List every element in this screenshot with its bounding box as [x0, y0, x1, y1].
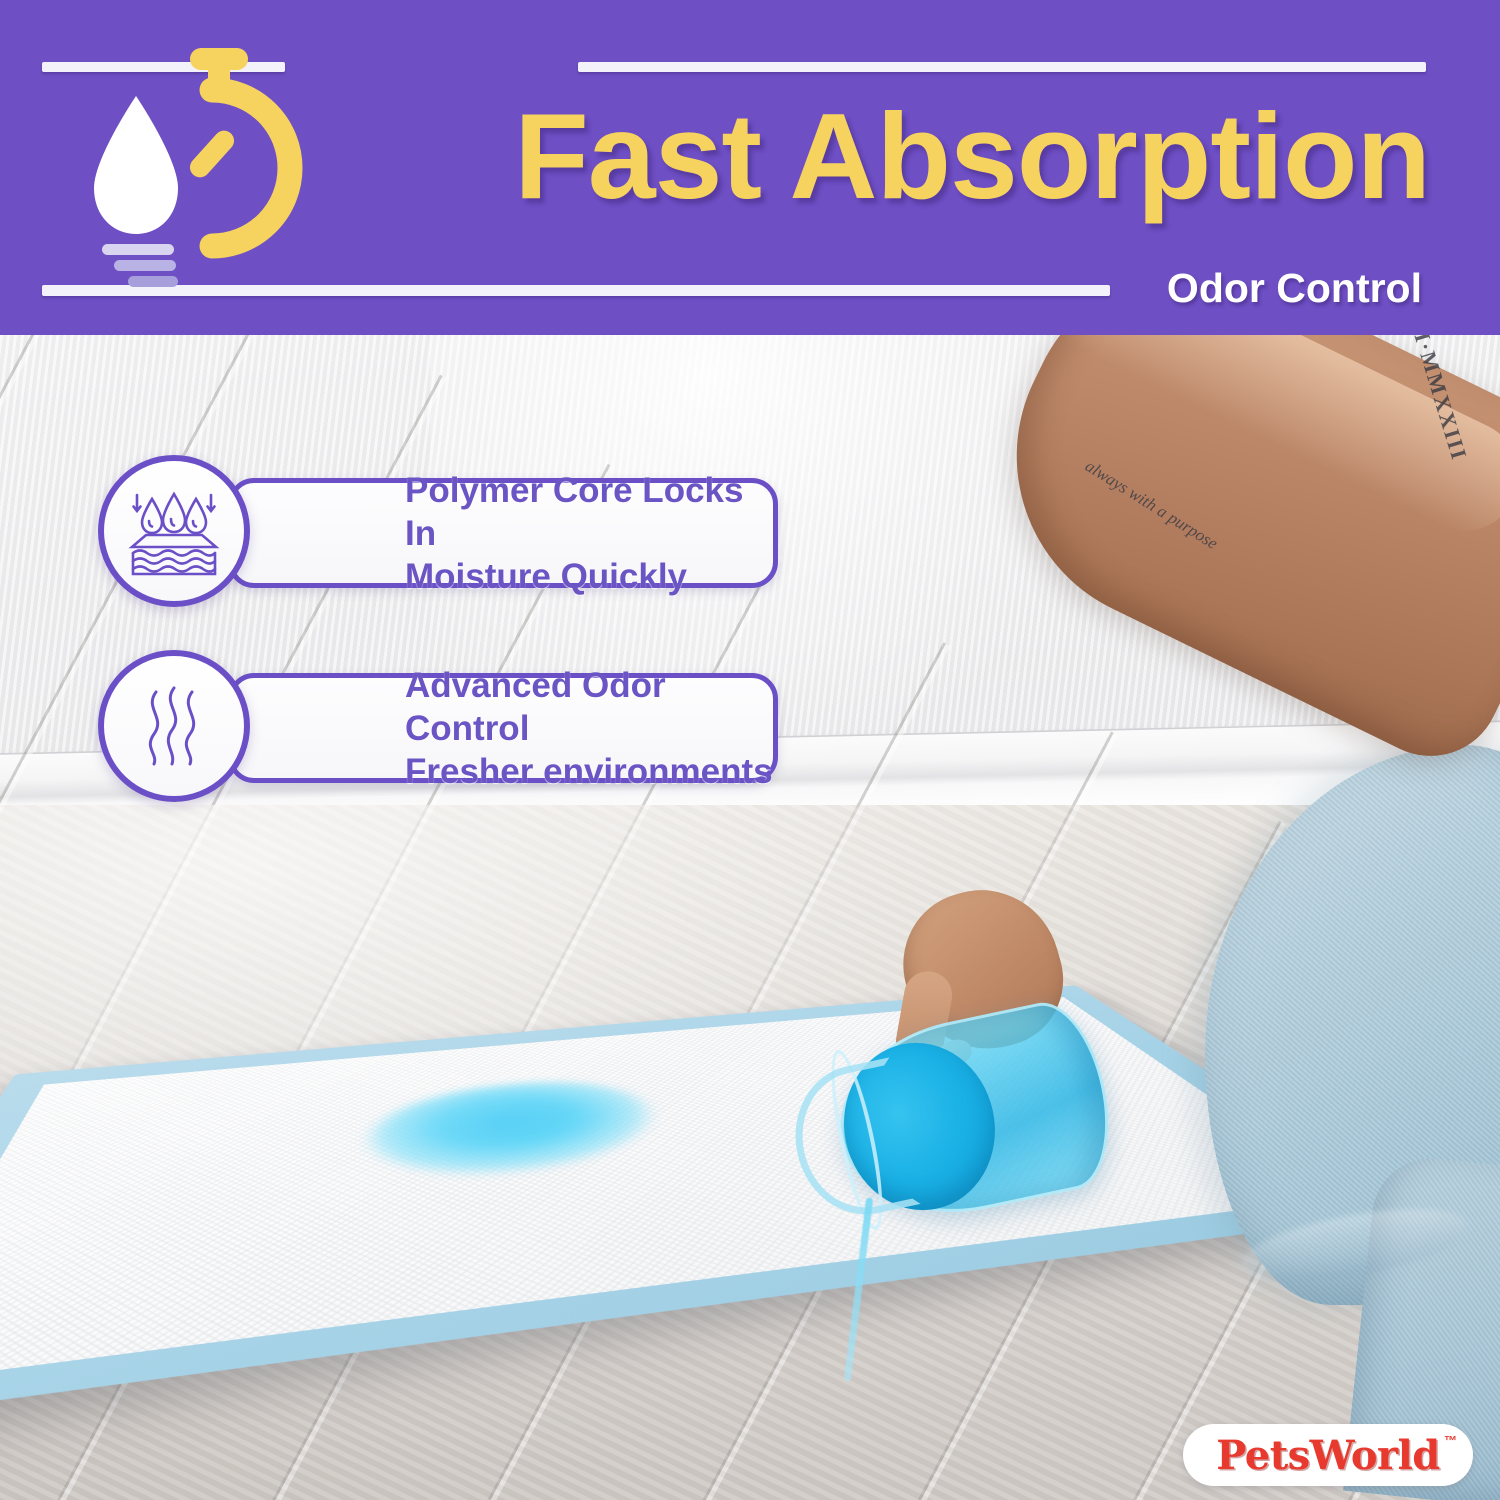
feature-pill: Advanced Odor Control Fresher environmen… — [228, 673, 778, 783]
product-photo-scene: IV·VI·MMXXIII always with a purpose Poly… — [0, 335, 1500, 1500]
header-subtitle: Odor Control — [1167, 262, 1422, 314]
page-title: Fast Absorption — [330, 86, 1430, 226]
moisture-absorption-icon — [124, 481, 224, 581]
pad-absorbent-surface — [0, 997, 1354, 1387]
pad-light-sheen — [0, 997, 1354, 1387]
trademark-symbol: ™ — [1444, 1433, 1457, 1448]
feature-label: Polymer Core Locks In Moisture Quickly — [233, 469, 773, 598]
feature-pill: Polymer Core Locks In Moisture Quickly — [228, 478, 778, 588]
brand-name: PetsWorld — [1216, 1432, 1440, 1479]
header-banner: Fast Absorption Odor Control — [0, 0, 1500, 335]
feature-icon-circle — [98, 455, 250, 607]
brand-logo: PetsWorld ™ — [1183, 1424, 1473, 1486]
feature-icon-circle — [98, 650, 250, 802]
droplet-stopwatch-icon — [80, 48, 310, 288]
odor-waves-icon — [124, 676, 224, 776]
header-rule-top-right — [578, 62, 1426, 72]
product-marketing-image: Fast Absorption Odor Control — [0, 0, 1500, 1500]
feature-label: Advanced Odor Control Fresher environmen… — [233, 664, 773, 793]
